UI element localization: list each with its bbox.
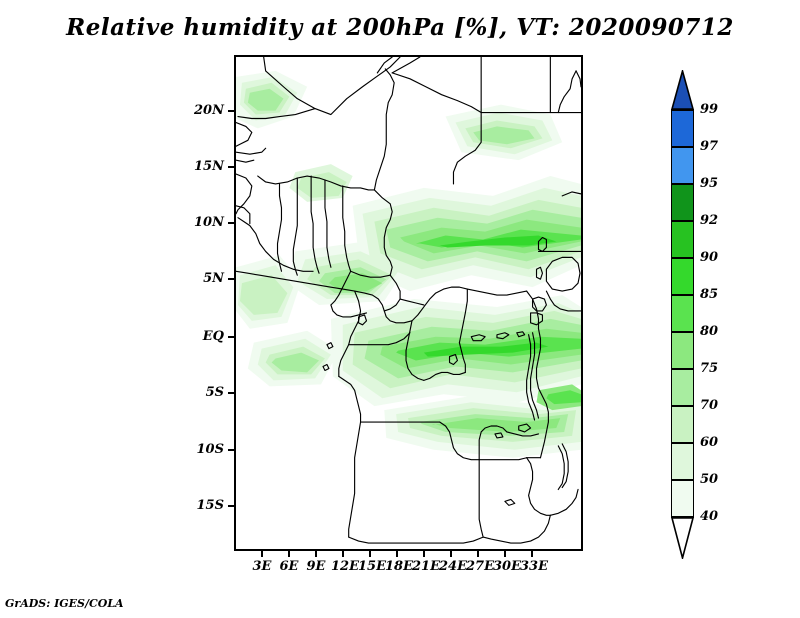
- y-tick: [228, 449, 234, 451]
- colorbar-sep: [671, 331, 694, 333]
- y-axis-label-15S: 15S: [180, 498, 224, 513]
- x-tick: [477, 551, 479, 557]
- x-tick: [531, 551, 533, 557]
- x-tick: [261, 551, 263, 557]
- colorbar-label-95: 95: [700, 176, 718, 191]
- colorbar-sep: [671, 146, 694, 148]
- colorbar-label-50: 50: [700, 472, 718, 487]
- x-tick: [423, 551, 425, 557]
- x-axis-label-33E: 33E: [518, 559, 550, 574]
- colorbar-label-97: 97: [700, 139, 718, 154]
- colorbar-label-70: 70: [700, 398, 718, 413]
- colorbar-band-90-92: [671, 258, 694, 295]
- colorbar-label-80: 80: [700, 324, 718, 339]
- x-axis-label-6E: 6E: [277, 559, 301, 574]
- y-axis-label-EQ: EQ: [180, 329, 224, 344]
- x-tick: [315, 551, 317, 557]
- colorbar-sep: [671, 442, 694, 444]
- colorbar-label-60: 60: [700, 435, 718, 450]
- x-axis-label-3E: 3E: [250, 559, 274, 574]
- y-tick: [228, 166, 234, 168]
- colorbar-sep: [671, 109, 694, 111]
- colorbar-label-40: 40: [700, 509, 718, 524]
- x-axis-label-9E: 9E: [304, 559, 328, 574]
- colorbar-label-85: 85: [700, 287, 718, 302]
- colorbar-sep: [671, 220, 694, 222]
- y-tick: [228, 278, 234, 280]
- colorbar-sep: [671, 405, 694, 407]
- y-tick: [228, 222, 234, 224]
- y-axis-label-5N: 5N: [180, 271, 224, 286]
- y-axis-label-20N: 20N: [180, 103, 224, 118]
- colorbar-top-arrow: [671, 70, 694, 110]
- x-tick: [504, 551, 506, 557]
- colorbar-band-80-85: [671, 332, 694, 369]
- colorbar-sep: [671, 368, 694, 370]
- colorbar[interactable]: 99 97 95 92 90 85 80 75 70 60 50 40: [655, 60, 755, 540]
- x-tick: [369, 551, 371, 557]
- attribution-footer: GrADS: IGES/COLA: [5, 597, 124, 610]
- x-tick: [450, 551, 452, 557]
- colorbar-band-97-99: [671, 147, 694, 184]
- colorbar-label-99: 99: [700, 102, 718, 117]
- colorbar-label-92: 92: [700, 213, 718, 228]
- colorbar-band-above99: [671, 110, 694, 147]
- colorbar-band-92-95: [671, 221, 694, 258]
- colorbar-band-60-70: [671, 443, 694, 480]
- colorbar-band-70-75: [671, 406, 694, 443]
- colorbar-sep: [671, 183, 694, 185]
- colorbar-band-50-60: [671, 480, 694, 517]
- map-svg: [236, 57, 581, 549]
- colorbar-sep: [671, 479, 694, 481]
- colorbar-sep: [671, 294, 694, 296]
- page-title: Relative humidity at 200hPa [%], VT: 202…: [0, 14, 800, 41]
- colorbar-sep: [671, 257, 694, 259]
- colorbar-band-95-97: [671, 184, 694, 221]
- colorbar-label-75: 75: [700, 361, 718, 376]
- x-tick: [288, 551, 290, 557]
- colorbar-bottom-arrow: [671, 517, 694, 559]
- y-tick: [228, 505, 234, 507]
- colorbar-label-90: 90: [700, 250, 718, 265]
- y-axis-label-10N: 10N: [180, 215, 224, 230]
- y-axis-label-10S: 10S: [180, 442, 224, 457]
- y-axis-label-15N: 15N: [180, 159, 224, 174]
- y-tick: [228, 392, 234, 394]
- y-tick: [228, 110, 234, 112]
- colorbar-band-75-80: [671, 369, 694, 406]
- x-tick: [342, 551, 344, 557]
- x-tick: [396, 551, 398, 557]
- colorbar-band-85-90: [671, 295, 694, 332]
- y-axis-label-5S: 5S: [180, 385, 224, 400]
- map-plot-area[interactable]: [234, 55, 583, 551]
- y-tick: [228, 336, 234, 338]
